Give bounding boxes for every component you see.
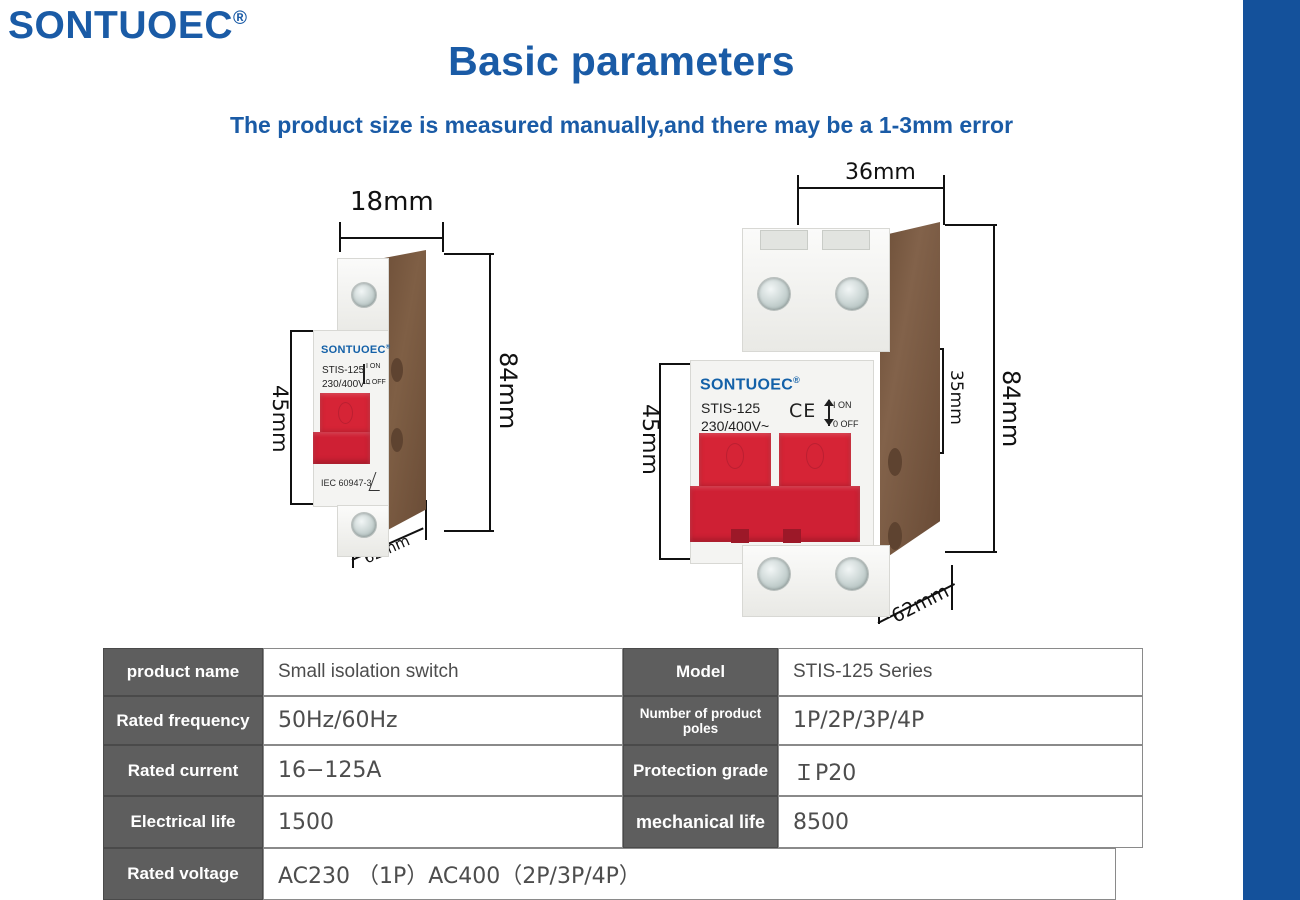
table-header-number-of-poles: Number of product poles	[623, 696, 778, 745]
table-value-number-of-poles: 1P/2P/3P/4P	[778, 696, 1143, 745]
terminal-opening-right-2p	[822, 230, 870, 250]
dimension-line-36mm	[797, 187, 945, 189]
table-value-protection-grade: ＩP20	[778, 745, 1143, 796]
table-value-rated-frequency: 50Hz/60Hz	[263, 696, 623, 745]
dimension-line-84mm-2p	[993, 224, 995, 552]
dimension-label-36mm: 36mm	[845, 160, 916, 185]
dimension-ext-45mm-2p-top	[659, 363, 691, 365]
device-toggle-lever-bar-2p[interactable]	[690, 486, 860, 542]
device-label-off-2p: 0 OFF	[833, 419, 859, 429]
toggle-oval-marking-pole2-2p	[806, 443, 824, 469]
dimension-tick-36mm-right	[943, 175, 945, 225]
device-label-model-2p: STIS-125	[701, 400, 760, 416]
device-label-on-2p: I ON	[833, 400, 852, 410]
table-header-model: Model	[623, 648, 778, 696]
terminal-screw-top-right-2p[interactable]	[835, 277, 869, 311]
dimension-line-35mm	[942, 348, 944, 454]
table-value-model: STIS-125 Series	[778, 648, 1143, 696]
table-header-electrical-life: Electrical life	[103, 796, 263, 848]
table-value-rated-voltage: AC230 （1P）AC400（2P/3P/4P）	[263, 848, 1116, 900]
mounting-hole-side-lower-2p	[888, 522, 902, 550]
dimension-label-62mm-2p: 62mm	[888, 580, 953, 627]
terminal-opening-left-2p	[760, 230, 808, 250]
dimension-ext-84mm-2p-bottom	[945, 551, 997, 553]
table-header-rated-voltage: Rated voltage	[103, 848, 263, 900]
device-label-voltage-2p: 230/400V~	[701, 418, 769, 434]
table-header-product-name: product name	[103, 648, 263, 696]
dimension-label-84mm-2p: 84mm	[997, 370, 1025, 447]
table-header-mechanical-life: mechanical life	[623, 796, 778, 848]
registered-mark-icon-2p: ®	[793, 375, 800, 385]
toggle-oval-marking-pole1-2p	[726, 443, 744, 469]
dimension-ext-45mm-2p-bottom	[659, 558, 691, 560]
product-image-2p: 36mm 84mm 35mm 45mm 62mm	[0, 0, 1100, 680]
table-header-rated-current: Rated current	[103, 745, 263, 796]
table-header-rated-frequency: Rated frequency	[103, 696, 263, 745]
dimension-tick-36mm-left	[797, 175, 799, 225]
dimension-ext-84mm-2p-top	[945, 224, 997, 226]
table-row: Rated voltage AC230 （1P）AC400（2P/3P/4P）	[103, 848, 1116, 900]
terminal-screw-bottom-right-2p[interactable]	[835, 557, 869, 591]
terminal-screw-bottom-left-2p[interactable]	[757, 557, 791, 591]
lever-notch-left-2p	[731, 529, 749, 543]
table-value-rated-current: 16−125A	[263, 745, 623, 796]
device-label-brand-2p: SONTUOEC®	[700, 375, 800, 394]
table-header-protection-grade: Protection grade	[623, 745, 778, 796]
terminal-screw-top-left-2p[interactable]	[757, 277, 791, 311]
table-value-mechanical-life: 8500	[778, 796, 1143, 848]
table-value-electrical-life: 1500	[263, 796, 623, 848]
product-spec-page: SONTUOEC® Basic parameters The product s…	[0, 0, 1300, 900]
dimension-tick-62mm-2p	[951, 565, 953, 610]
table-row: Electrical life 1500 mechanical life 850…	[103, 796, 1143, 848]
ce-mark-icon: CE	[789, 400, 816, 422]
table-row: Rated current 16−125A Protection grade Ｉ…	[103, 745, 1143, 796]
mounting-hole-side-upper-2p	[888, 448, 902, 476]
dimension-label-45mm-2p: 45mm	[637, 404, 662, 475]
right-blue-band	[1243, 0, 1300, 900]
table-row: product name Small isolation switch Mode…	[103, 648, 1143, 696]
table-value-product-name: Small isolation switch	[263, 648, 623, 696]
lever-notch-right-2p	[783, 529, 801, 543]
table-row: Rated frequency 50Hz/60Hz Number of prod…	[103, 696, 1143, 745]
dimension-label-35mm: 35mm	[946, 370, 966, 425]
